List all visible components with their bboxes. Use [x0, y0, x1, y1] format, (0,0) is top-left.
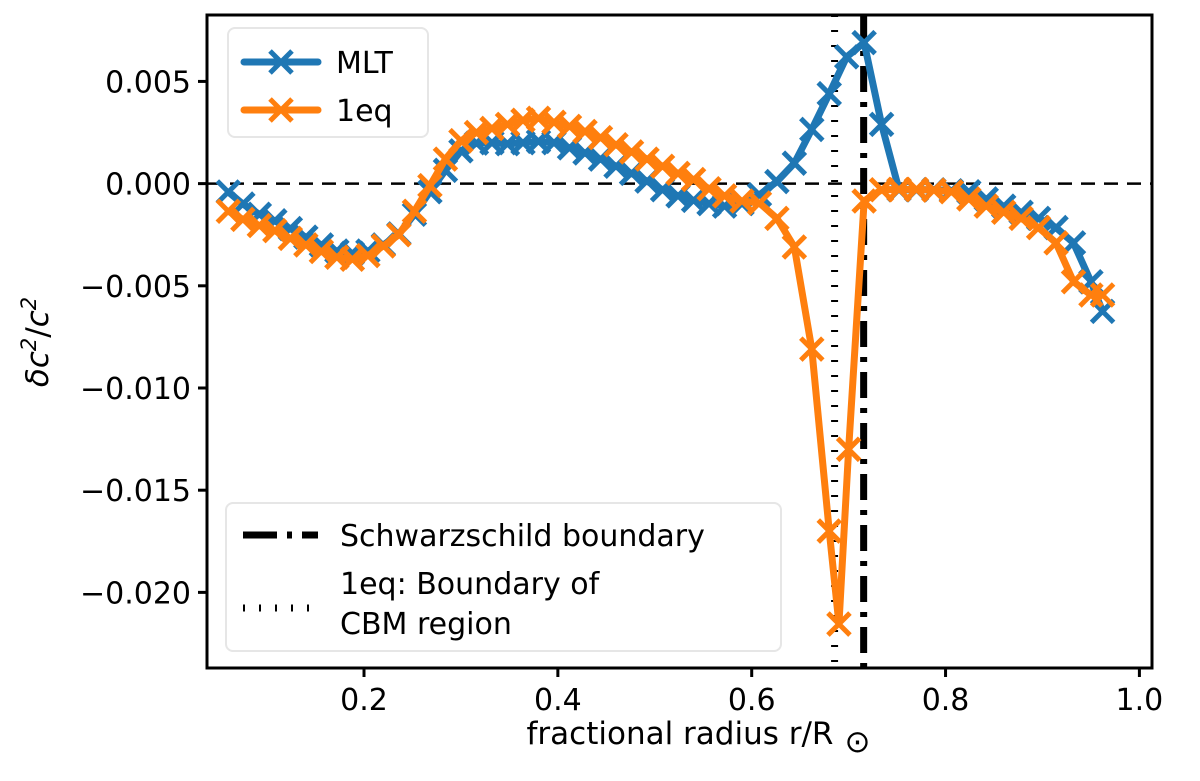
series-legend[interactable]: MLT1eq: [228, 28, 428, 137]
y-tick-label: −0.015: [80, 474, 191, 509]
legend-label-text-line1: 1eq: Boundary of: [340, 567, 601, 602]
y-tick-label: −0.010: [80, 372, 191, 407]
x-axis-label-subscript: ⊙: [844, 724, 870, 760]
x-axis-label-text: fractional radius r/R: [527, 716, 834, 752]
series-legend-box: [228, 28, 428, 137]
plot-svg: 0.20.40.60.81.0 0.0050.000−0.005−0.010−0…: [0, 0, 1200, 781]
legend-label-text: 1eq: [336, 94, 393, 129]
legend-label-text-line2: CBM region: [340, 607, 512, 642]
y-tick-label: −0.020: [80, 576, 191, 611]
y-tick-label: 0.000: [105, 168, 191, 203]
x-tick-label: 0.6: [728, 683, 776, 718]
x-tick-label: 0.2: [340, 683, 388, 718]
x-tick-label: 0.8: [922, 683, 970, 718]
linestyle-legend[interactable]: Schwarzschild boundary1eq: Boundary ofCB…: [226, 503, 781, 651]
figure-container: 0.20.40.60.81.0 0.0050.000−0.005−0.010−0…: [0, 0, 1200, 781]
y-tick-label: −0.005: [80, 270, 191, 305]
legend-label-text: Schwarzschild boundary: [340, 519, 705, 554]
y-tick-label: 0.005: [105, 65, 191, 100]
legend-label-text: MLT: [336, 46, 393, 81]
x-tick-label: 1.0: [1116, 683, 1164, 718]
x-tick-label: 0.4: [534, 683, 582, 718]
